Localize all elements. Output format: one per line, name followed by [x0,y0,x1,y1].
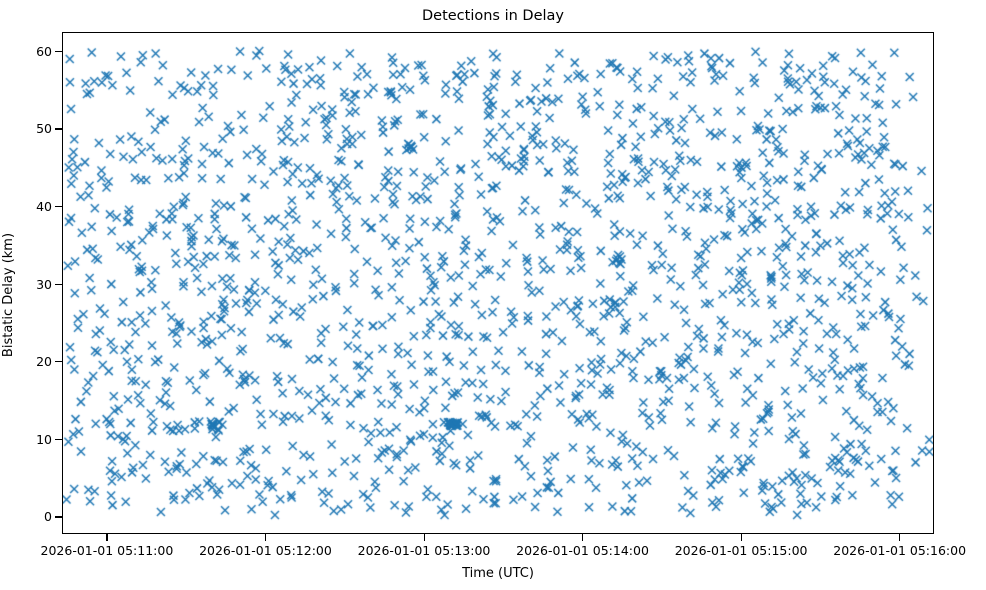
y-tick-mark [55,51,62,52]
x-tick-label: 2026-01-01 05:16:00 [833,544,966,558]
y-tick-label-group: 0102030405060 [0,0,52,590]
chart-title: Detections in Delay [0,6,986,26]
x-tick-mark [424,534,425,541]
y-tick-mark [55,361,62,362]
x-tick-mark [106,534,107,541]
y-tick-label: 50 [8,122,52,135]
x-tick-label: 2026-01-01 05:12:00 [199,544,332,558]
figure-canvas: Detections in Delay Bistatic Delay (km) … [0,0,986,590]
y-tick-label: 40 [8,200,52,213]
x-axis-label: Time (UTC) [62,566,934,582]
y-tick-mark [55,439,62,440]
x-tick-mark [582,534,583,541]
y-tick-label: 20 [8,355,52,368]
x-tick-mark [741,534,742,541]
y-tick-label: 60 [8,45,52,58]
x-tick-label: 2026-01-01 05:13:00 [358,544,491,558]
y-tick-label: 0 [8,510,52,523]
x-tick-label: 2026-01-01 05:15:00 [675,544,808,558]
x-tick-mark [899,534,900,541]
y-tick-mark [55,128,62,129]
x-tick-label: 2026-01-01 05:11:00 [41,544,174,558]
scatter-plot-canvas [63,33,934,534]
y-tick-mark [55,284,62,285]
y-tick-mark [55,206,62,207]
x-tick-label: 2026-01-01 05:14:00 [516,544,649,558]
y-tick-mark [55,516,62,517]
plot-area[interactable] [62,32,934,534]
y-tick-label: 30 [8,278,52,291]
x-tick-mark [265,534,266,541]
y-tick-label: 10 [8,433,52,446]
